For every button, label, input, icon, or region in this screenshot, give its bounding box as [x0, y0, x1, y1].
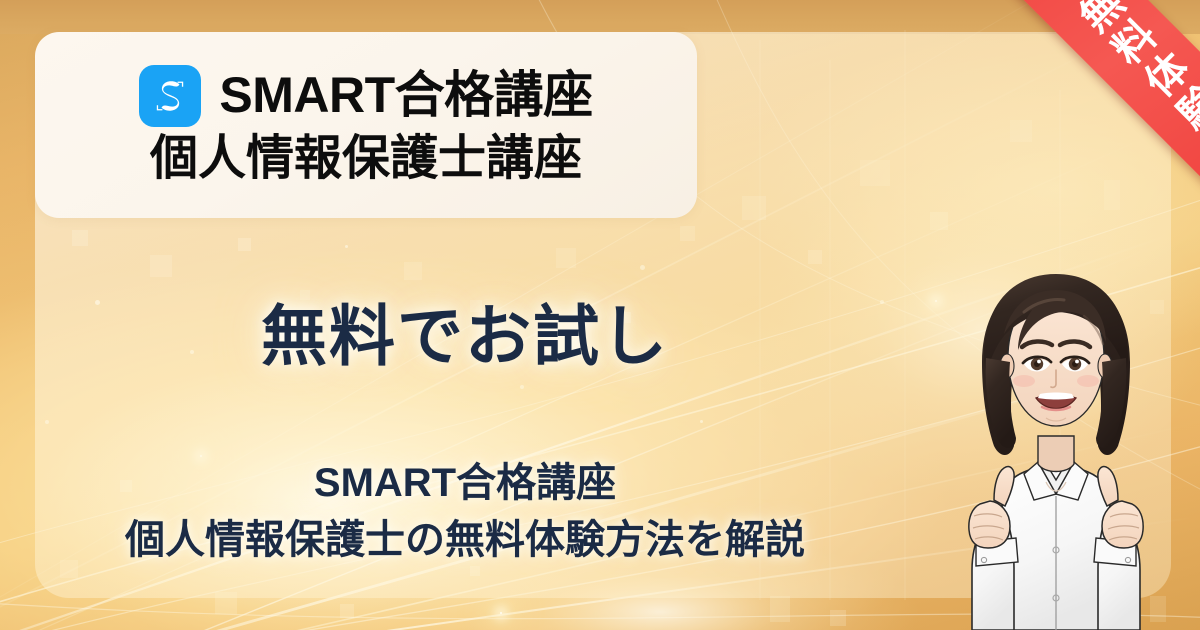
- headline: 無料でお試し: [0, 300, 930, 373]
- subtitle-line-1: SMART合格講座: [0, 455, 930, 512]
- subtitle-line-2: 個人情報保護士の無料体験方法を解説: [0, 512, 930, 569]
- subtitle-block: SMART合格講座 個人情報保護士の無料体験方法を解説: [0, 455, 930, 569]
- header-card: SMART合格講座 個人情報保護士講座: [35, 32, 697, 218]
- brand-name: SMART合格講座: [219, 69, 592, 122]
- smart-s-logo-icon: [139, 65, 201, 127]
- course-name: 個人情報保護士講座: [150, 133, 582, 186]
- banner-canvas: SMART合格講座 個人情報保護士講座 無料でお試し SMART合格講座 個人情…: [0, 0, 1200, 630]
- lens-flare-star: [500, 612, 502, 614]
- lens-flare-star: [935, 300, 937, 302]
- lens-flare-star: [1085, 390, 1087, 392]
- brand-row: SMART合格講座: [139, 65, 592, 127]
